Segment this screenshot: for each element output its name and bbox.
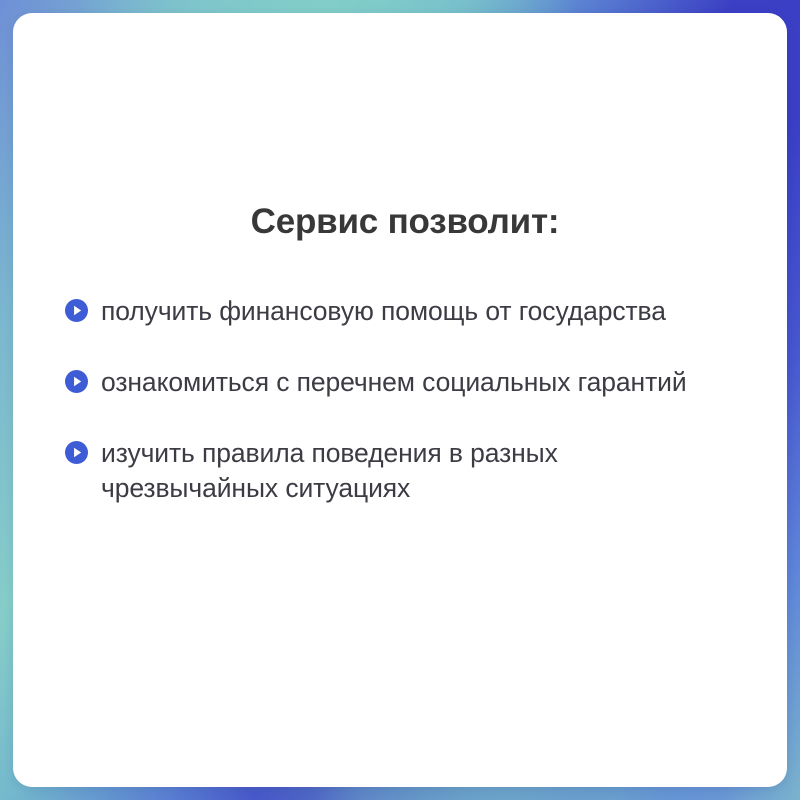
slide-root: Сервис позволит: получить финансовую пом…: [0, 0, 800, 800]
content-card: Сервис позволит: получить финансовую пом…: [13, 13, 787, 787]
list-item-label: ознакомиться с перечнем социальных гаран…: [101, 365, 687, 400]
page-title: Сервис позволит:: [65, 203, 745, 242]
list-item: получить финансовую помощь от государств…: [65, 294, 745, 329]
play-circle-icon: [65, 441, 88, 464]
play-circle-icon: [65, 299, 88, 322]
benefits-list: получить финансовую помощь от государств…: [65, 294, 745, 507]
list-item: ознакомиться с перечнем социальных гаран…: [65, 365, 745, 400]
card-content-area: Сервис позволит: получить финансовую пом…: [13, 203, 787, 506]
list-item-label: изучить правила поведения в разных чрезв…: [101, 436, 726, 506]
play-circle-icon: [65, 370, 88, 393]
list-item: изучить правила поведения в разных чрезв…: [65, 436, 745, 506]
list-item-label: получить финансовую помощь от государств…: [101, 294, 666, 329]
